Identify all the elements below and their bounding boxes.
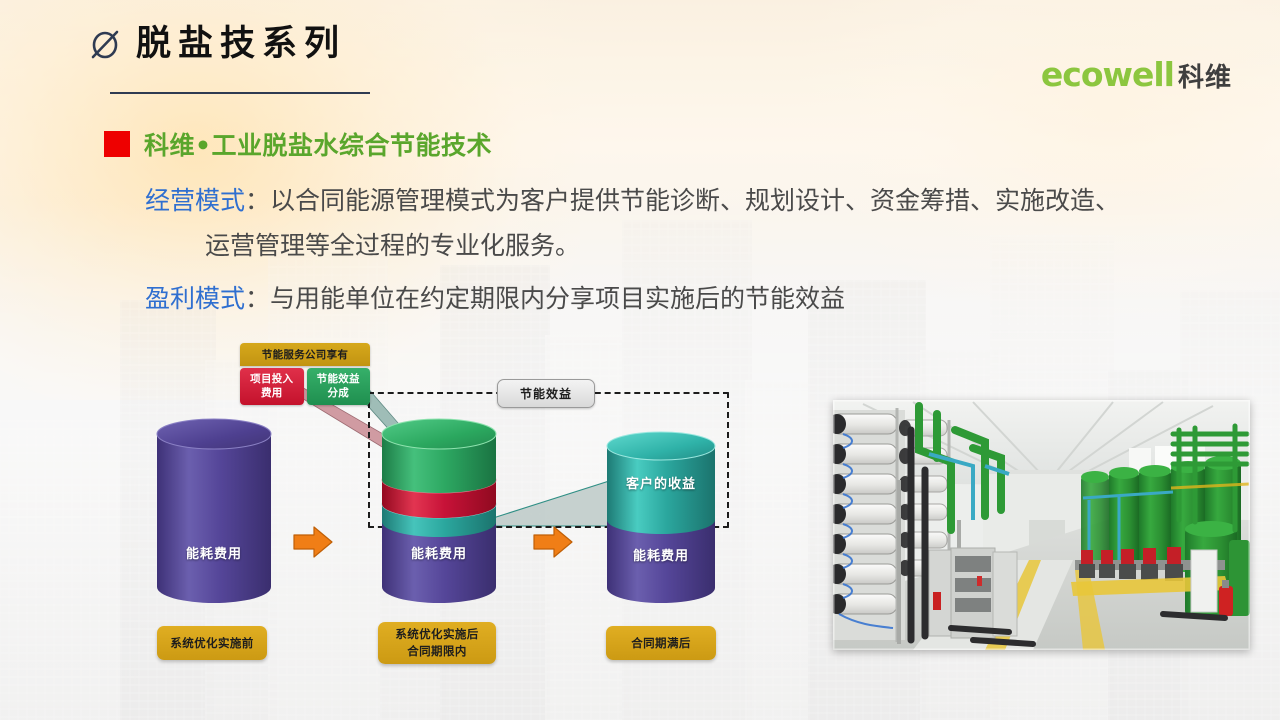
- cylinder-after-contract-benefit-label: 客户的收益: [605, 473, 717, 492]
- header-underline: [110, 92, 370, 94]
- caption-before-optimization-line1: 系统优化实施前: [170, 635, 253, 652]
- paragraph-profit-model-line1: ：与用能单位在约定期限内分享项目实施后的节能效益: [245, 284, 845, 313]
- paragraph-business-model-line1: ：以合同能源管理模式为客户提供节能诊断、规划设计、资金筹措、实施改造、: [245, 186, 1120, 215]
- badge-project-investment-line1: 项目投入: [240, 372, 304, 386]
- cylinder-during-contract-label: 能耗费用: [380, 543, 498, 562]
- badge-esco-owned: 节能服务公司享有: [240, 343, 370, 366]
- red-square-bullet-icon: [104, 131, 130, 157]
- flow-arrow-1-icon: [292, 525, 334, 559]
- cylinder-before-optimization-label: 能耗费用: [155, 543, 273, 562]
- logo-wordmark: ecowell: [1041, 58, 1174, 91]
- paragraph-profit-model-key: 盈利模式: [145, 284, 245, 313]
- logo-chinese-name: 科维: [1178, 65, 1232, 91]
- page-header: 脱盐技系列: [88, 26, 346, 62]
- paragraph-business-model: 经营模式：以合同能源管理模式为客户提供节能诊断、规划设计、资金筹措、实施改造、 …: [145, 178, 1235, 268]
- cylinder-during-contract: [380, 418, 498, 603]
- brand-logo: ecowell 科维: [1041, 58, 1232, 91]
- badge-savings-share: 节能效益 分成: [307, 368, 371, 405]
- badge-project-investment: 项目投入 费用: [240, 368, 304, 405]
- slide-root: 脱盐技系列 ecowell 科维 科维•工业脱盐水综合节能技术 经营模式：以合同…: [0, 0, 1280, 720]
- caption-during-contract-line1: 系统优化实施后: [395, 626, 478, 643]
- desalination-plant-photo: [833, 400, 1250, 650]
- section-title: 科维•工业脱盐水综合节能技术: [144, 126, 492, 162]
- badge-savings-share-line1: 节能效益: [307, 372, 371, 386]
- circle-slash-icon: [88, 26, 122, 62]
- paragraph-business-model-line2: 运营管理等全过程的专业化服务。: [205, 223, 1235, 268]
- caption-before-optimization: 系统优化实施前: [157, 626, 267, 660]
- section-heading: 科维•工业脱盐水综合节能技术: [104, 126, 492, 162]
- caption-during-contract-line2: 合同期限内: [407, 643, 467, 660]
- paragraph-business-model-key: 经营模式: [145, 186, 245, 215]
- flow-arrow-2-icon: [532, 525, 574, 559]
- badge-project-investment-line2: 费用: [240, 386, 304, 400]
- badge-savings-share-line2: 分成: [307, 386, 371, 400]
- cylinder-after-contract-cost-label: 能耗费用: [605, 545, 717, 564]
- caption-during-contract: 系统优化实施后 合同期限内: [378, 622, 496, 664]
- caption-after-contract: 合同期满后: [606, 626, 716, 660]
- cylinder-after-contract: [605, 430, 717, 603]
- paragraph-profit-model: 盈利模式：与用能单位在约定期限内分享项目实施后的节能效益: [145, 276, 1235, 321]
- caption-after-contract-line1: 合同期满后: [631, 635, 691, 652]
- esco-share-badge-group: 节能服务公司享有 项目投入 费用 节能效益 分成: [240, 343, 370, 405]
- energy-saving-diagram: 节能效益 节能服务公司享有 项目投入 费用 节能效益 分成: [0, 330, 820, 690]
- page-title: 脱盐技系列: [136, 27, 346, 62]
- savings-tag: 节能效益: [497, 379, 595, 408]
- cylinder-before-optimization: [155, 418, 273, 603]
